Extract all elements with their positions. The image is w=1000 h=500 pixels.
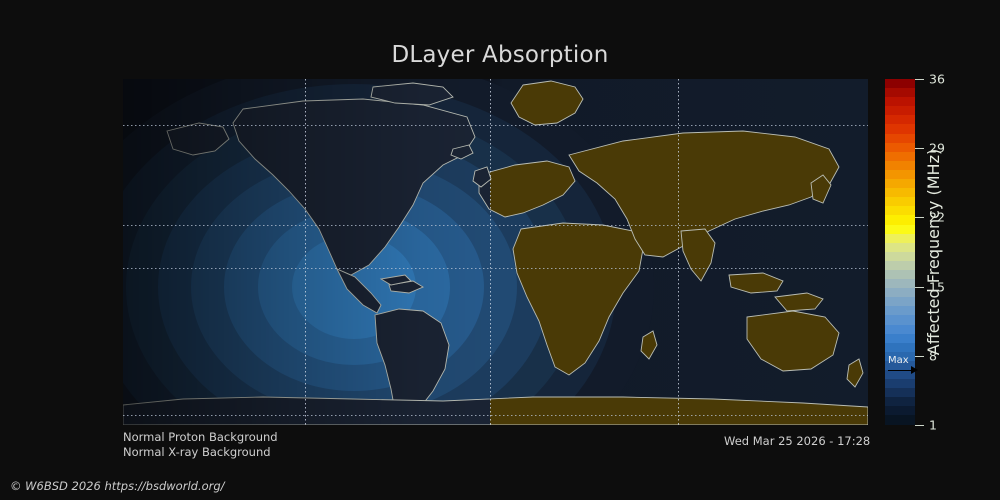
colorbar-swatch-0 <box>885 79 915 88</box>
landmass-day-0 <box>511 81 583 125</box>
colorbar-swatch-36 <box>885 406 915 415</box>
colorbar-swatch-4 <box>885 115 915 124</box>
landmass-day-12 <box>747 311 839 371</box>
landmass-day-6 <box>479 161 575 217</box>
colorbar-swatch-24 <box>885 297 915 306</box>
colorbar-swatch-29 <box>885 343 915 352</box>
landmass-night-2 <box>167 123 229 155</box>
colorbar-swatch-28 <box>885 334 915 343</box>
colorbar-swatch-1 <box>885 88 915 97</box>
colorbar-swatch-16 <box>885 225 915 234</box>
colorbar-swatch-27 <box>885 325 915 334</box>
landmass-day-10 <box>775 293 823 311</box>
coastlines-svg <box>123 79 868 425</box>
colorbar-swatch-33 <box>885 379 915 388</box>
colorbar-swatch-8 <box>885 152 915 161</box>
colorbar-swatch-6 <box>885 134 915 143</box>
world-map[interactable] <box>123 79 868 425</box>
colorbar-axis-label: Affected Frequency (MHz) <box>916 79 950 425</box>
colorbar-swatch-18 <box>885 243 915 252</box>
colorbar-swatch-23 <box>885 288 915 297</box>
landmass-day-8 <box>681 229 715 281</box>
colorbar-swatch-9 <box>885 161 915 170</box>
xray-status-text: Normal X-ray Background <box>123 445 271 459</box>
copyright-footer: © W6BSD 2026 https://bsdworld.org/ <box>10 479 225 493</box>
colorbar-swatch-11 <box>885 179 915 188</box>
colorbar-swatch-14 <box>885 206 915 215</box>
colorbar-swatch-26 <box>885 315 915 324</box>
colorbar-swatch-25 <box>885 306 915 315</box>
landmass-day-5 <box>513 223 643 375</box>
colorbar-swatch-37 <box>885 415 915 424</box>
landmass-day-13 <box>847 359 863 387</box>
colorbar-swatch-3 <box>885 106 915 115</box>
land-layer <box>123 79 868 425</box>
colorbar-swatch-15 <box>885 215 915 224</box>
colorbar-swatch-21 <box>885 270 915 279</box>
landmass-night-3 <box>337 269 381 313</box>
proton-status-text: Normal Proton Background <box>123 430 278 444</box>
colorbar-swatch-34 <box>885 388 915 397</box>
colorbar-swatch-5 <box>885 124 915 133</box>
landmass-day-9 <box>729 273 783 293</box>
colorbar-swatch-2 <box>885 97 915 106</box>
page-title: DLayer Absorption <box>0 42 1000 68</box>
colorbar-swatch-19 <box>885 252 915 261</box>
colorbar-swatch-17 <box>885 234 915 243</box>
colorbar-swatch-22 <box>885 279 915 288</box>
colorbar-swatch-10 <box>885 170 915 179</box>
colorbar-swatch-13 <box>885 197 915 206</box>
landmass-day-15 <box>641 331 657 359</box>
timestamp-text: Wed Mar 25 2026 - 17:28 <box>724 434 870 448</box>
colorbar-tick-mark-1 <box>915 425 924 426</box>
colorbar-swatch-35 <box>885 397 915 406</box>
landmass-night-1 <box>233 99 475 275</box>
colorbar-swatch-7 <box>885 143 915 152</box>
dlayer-absorption-page: DLayer Absorption 3629221581 Max <box>0 0 1000 500</box>
colorbar-swatch-20 <box>885 261 915 270</box>
colorbar-swatch-12 <box>885 188 915 197</box>
